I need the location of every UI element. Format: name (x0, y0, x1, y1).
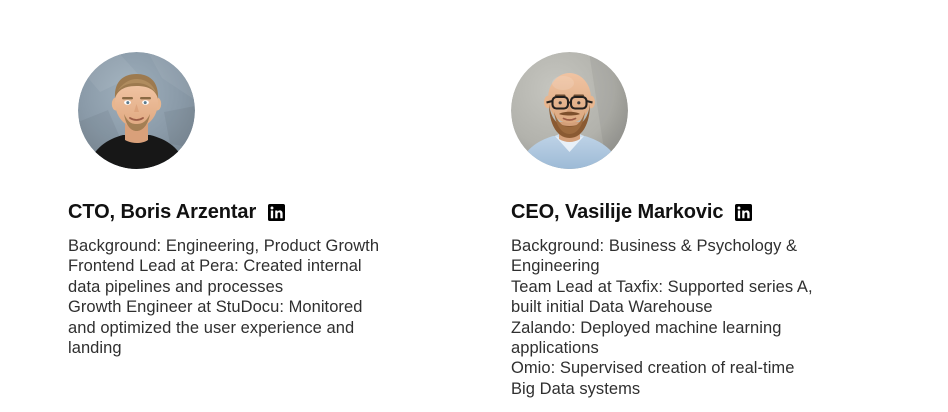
profile-name-row: CEO, Vasilije Markovic (511, 200, 863, 224)
avatar (78, 52, 195, 169)
profile-name-row: CTO, Boris Arzentar (68, 200, 420, 224)
profile-bio-boris-arzentar: Background: Engineering, Product Growth … (68, 236, 420, 358)
avatar (511, 52, 628, 169)
profile-bio-vasilije-markovic: Background: Business & Psychology & Engi… (511, 236, 863, 399)
profile-name-boris-arzentar: CTO, Boris Arzentar (68, 200, 256, 224)
linkedin-icon[interactable] (735, 204, 752, 221)
profile-card-boris-arzentar: CTO, Boris Arzentar Background: Engineer… (68, 52, 420, 358)
profile-name-vasilije-markovic: CEO, Vasilije Markovic (511, 200, 723, 224)
team-profiles-board: CTO, Boris Arzentar Background: Engineer… (0, 0, 948, 412)
profile-card-vasilije-markovic: CEO, Vasilije Markovic Background: Busin… (511, 52, 863, 399)
linkedin-icon[interactable] (268, 204, 285, 221)
avatar-photo-vasilije-markovic (511, 52, 628, 169)
avatar-photo-boris-arzentar (78, 52, 195, 169)
